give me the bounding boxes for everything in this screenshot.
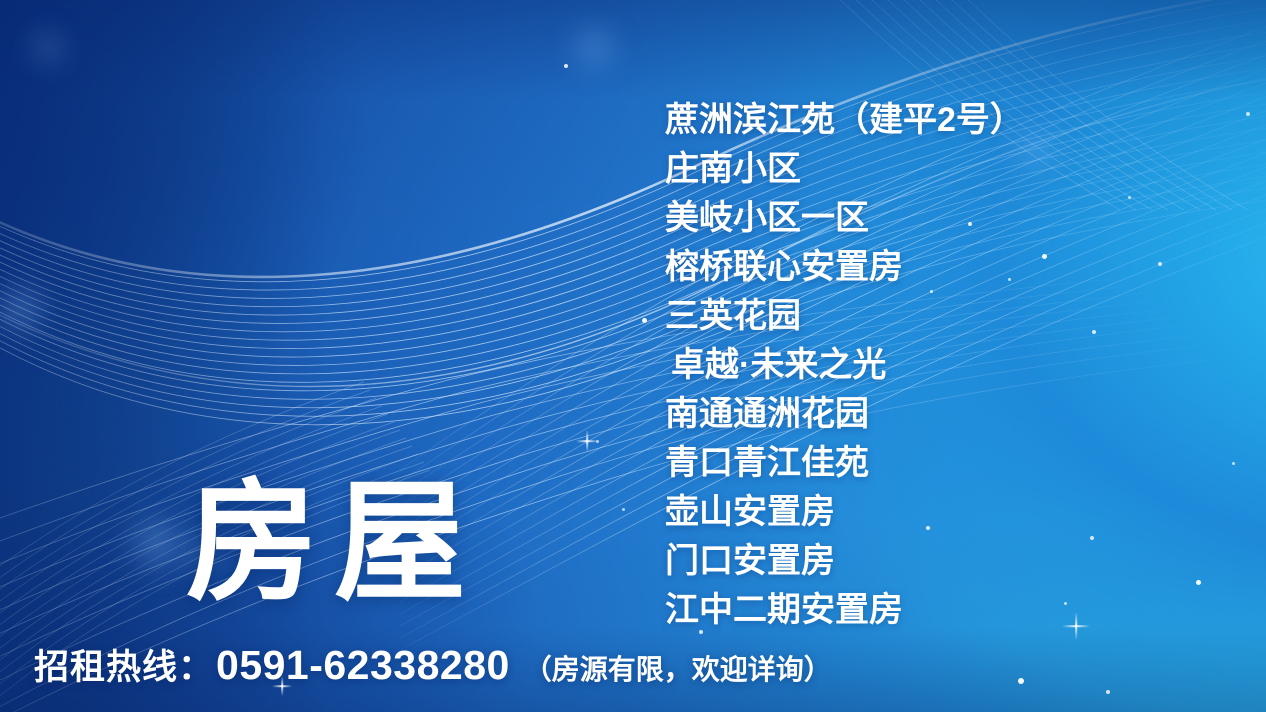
list-item: 青口青江佳苑 bbox=[665, 439, 1225, 488]
list-item: 门口安置房 bbox=[665, 537, 1225, 586]
list-item: 江中二期安置房 bbox=[665, 586, 1225, 635]
list-item: 榕桥联心安置房 bbox=[665, 243, 1225, 292]
list-item: 卓越·未来之光 bbox=[665, 341, 1225, 390]
list-item: 壶山安置房 bbox=[665, 488, 1225, 537]
property-list: 蔗洲滨江苑（建平2号） 庄南小区 美岐小区一区 榕桥联心安置房 三英花园 卓越·… bbox=[665, 96, 1225, 635]
list-item: 蔗洲滨江苑（建平2号） bbox=[665, 96, 1225, 145]
hotline-number[interactable]: 0591-62338280 bbox=[216, 642, 510, 689]
list-item: 三英花园 bbox=[665, 292, 1225, 341]
hotline-label: 招租热线： bbox=[34, 639, 214, 690]
rental-poster: 房屋 招租 蔗洲滨江苑（建平2号） 庄南小区 美岐小区一区 榕桥联心安置房 三英… bbox=[0, 0, 1266, 712]
list-item: 南通通洲花园 bbox=[665, 390, 1225, 439]
headline-line-1: 房屋 bbox=[186, 464, 502, 622]
list-item: 庄南小区 bbox=[665, 145, 1225, 194]
poster-headline: 房屋 招租 bbox=[186, 148, 502, 712]
poster-content: 房屋 招租 蔗洲滨江苑（建平2号） 庄南小区 美岐小区一区 榕桥联心安置房 三英… bbox=[0, 0, 1266, 712]
list-item: 美岐小区一区 bbox=[665, 194, 1225, 243]
hotline-note: （房源有限，欢迎详询） bbox=[524, 648, 832, 688]
hotline-banner: 招租热线： 0591-62338280 （房源有限，欢迎详询） bbox=[34, 639, 832, 690]
